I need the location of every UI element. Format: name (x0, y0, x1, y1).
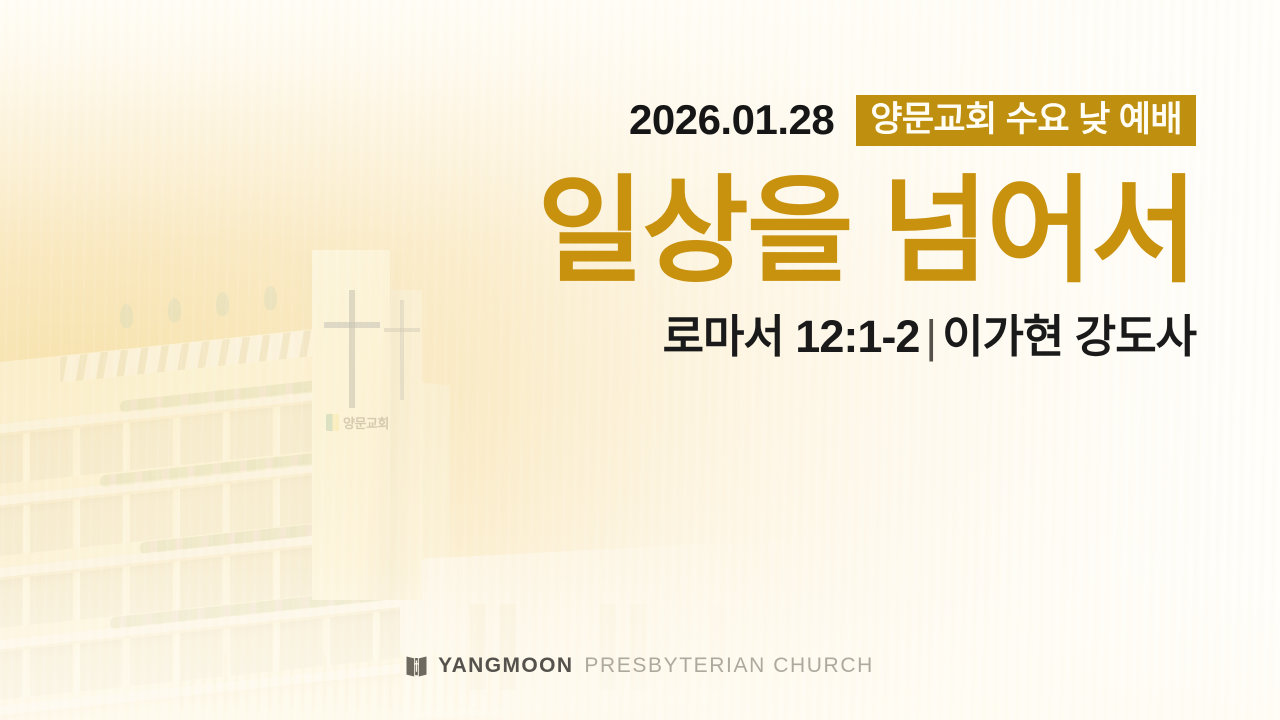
scripture-and-speaker: 로마서 12:1-2|이가현 강도사 (456, 312, 1196, 362)
sermon-title: 일상을 넘어서 (456, 172, 1196, 290)
brand-name: YANGMOON (438, 654, 573, 678)
date-and-service-row: 2026.01.28 양문교회 수요 낮 예배 (456, 92, 1196, 148)
scripture-reference: 로마서 12:1-2 (663, 311, 920, 362)
speaker-name: 이가현 강도사 (942, 311, 1196, 362)
brand-subtitle: PRESBYTERIAN CHURCH (584, 654, 873, 678)
service-name-badge: 양문교회 수요 낮 예배 (856, 95, 1196, 146)
footer-brand: YANGMOON PRESBYTERIAN CHURCH (0, 654, 1280, 678)
slide-text-content: 2026.01.28 양문교회 수요 낮 예배 일상을 넘어서 로마서 12:1… (456, 92, 1196, 362)
text-separator: | (919, 311, 942, 362)
service-date: 2026.01.28 (629, 99, 834, 141)
open-bible-cross-icon (406, 655, 427, 678)
service-announcement-slide: 양문교회 2026.01.28 양문교회 수요 낮 예배 일상을 넘어서 로마서… (0, 0, 1280, 720)
